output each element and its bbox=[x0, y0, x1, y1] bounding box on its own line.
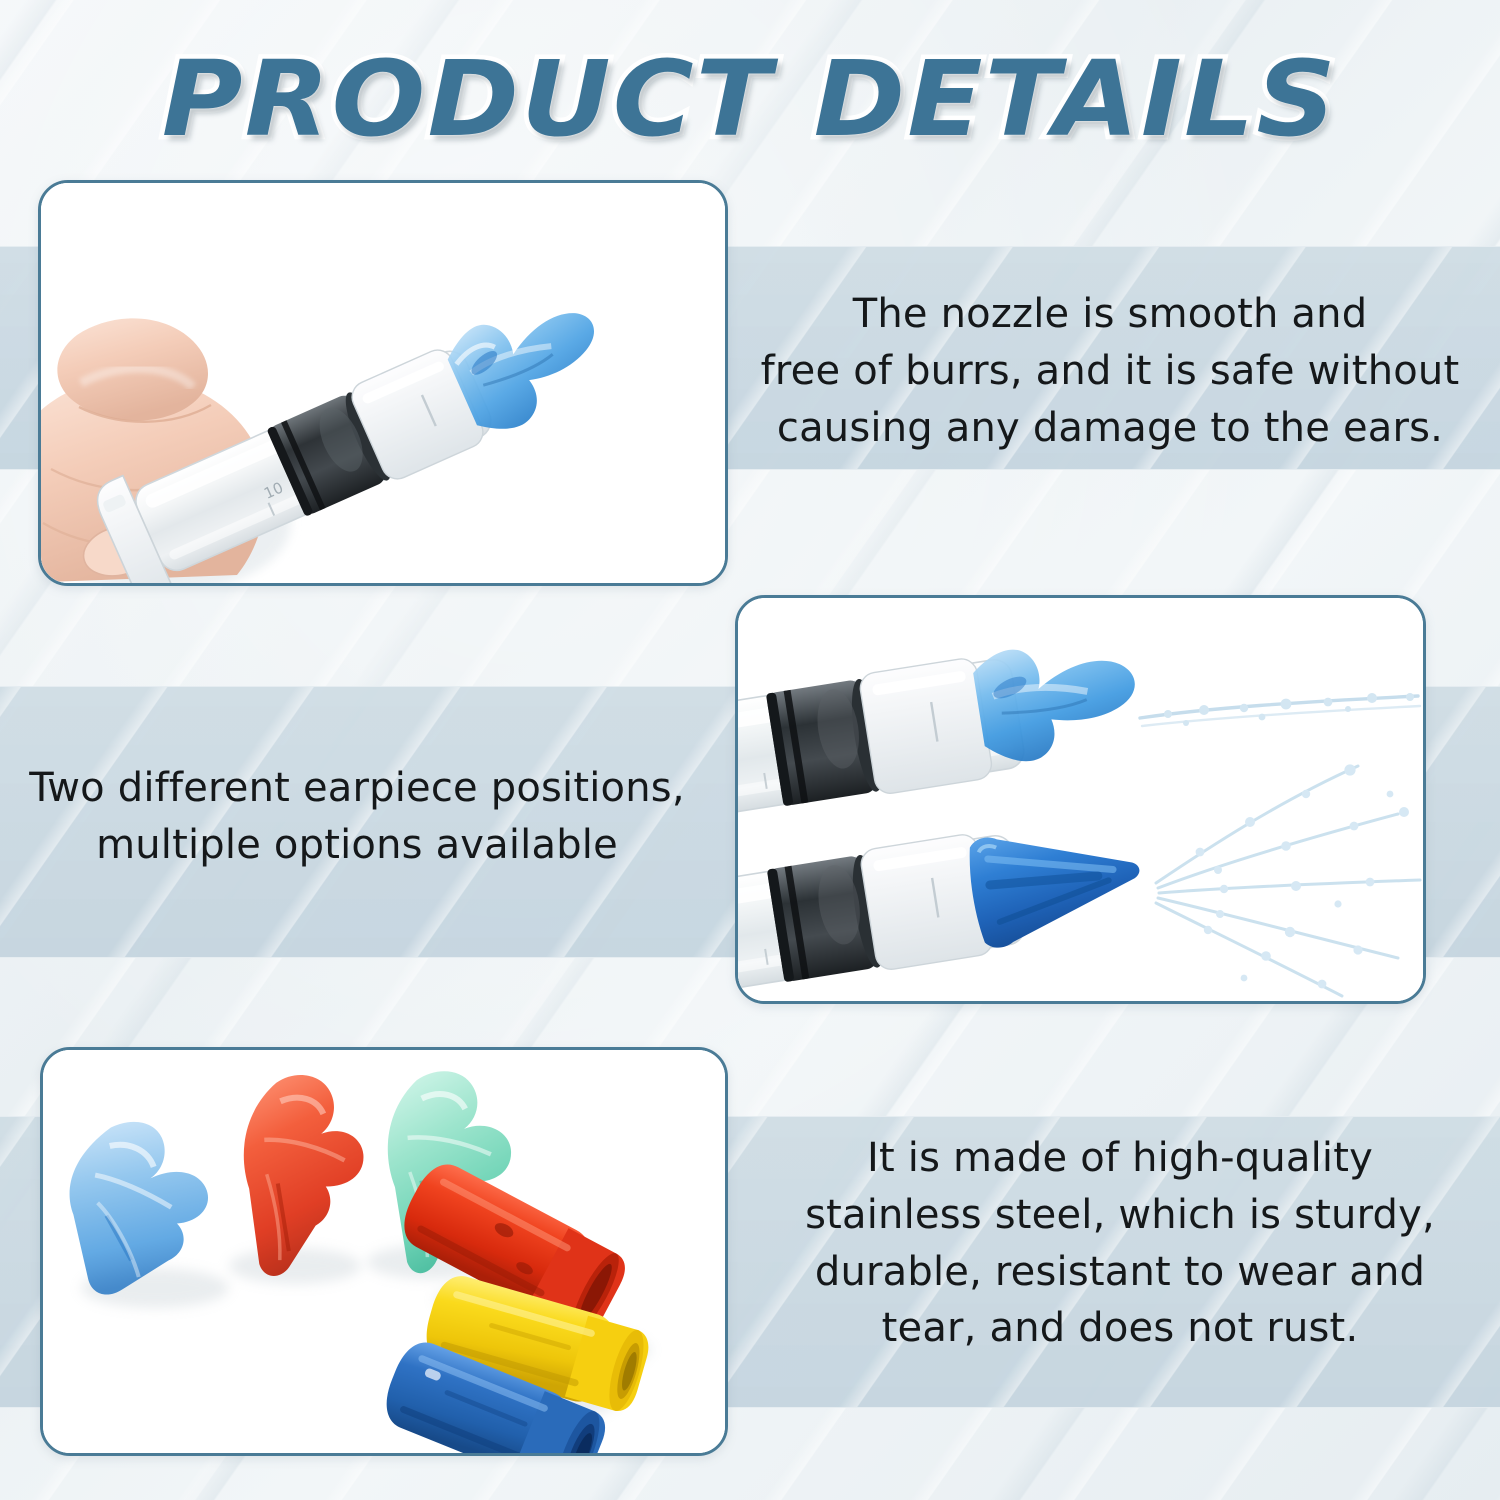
page-title: PRODUCT DETAILS bbox=[162, 38, 1338, 160]
copy-line: The nozzle is smooth and bbox=[760, 286, 1460, 343]
page-title-container: PRODUCT DETAILS bbox=[0, 38, 1500, 160]
copy-line: durable, resistant to wear and bbox=[790, 1244, 1450, 1301]
copy-line: causing any damage to the ears. bbox=[760, 400, 1460, 457]
illustration-six-nozzle-tips bbox=[43, 1050, 725, 1453]
card-hand-holding-syringe: 10 bbox=[38, 180, 728, 586]
card-two-nozzle-spray: 10 bbox=[735, 595, 1426, 1004]
illustration-two-spraying-syringes: 10 bbox=[738, 598, 1423, 1001]
copy-line: It is made of high-quality bbox=[790, 1130, 1450, 1187]
copy-line: Two different earpiece positions, bbox=[22, 760, 692, 817]
copy-two-earpiece-positions: Two different earpiece positions, multip… bbox=[22, 760, 692, 874]
copy-nozzle-smooth: The nozzle is smooth and free of burrs, … bbox=[760, 286, 1460, 456]
copy-line: tear, and does not rust. bbox=[790, 1300, 1450, 1357]
copy-line: stainless steel, which is sturdy, bbox=[790, 1187, 1450, 1244]
illustration-hand-with-syringe: 10 bbox=[41, 183, 725, 583]
photo-two-nozzle-spray: 10 bbox=[738, 598, 1423, 1001]
copy-stainless-steel: It is made of high-quality stainless ste… bbox=[790, 1130, 1450, 1357]
photo-nozzle-tips bbox=[43, 1050, 725, 1453]
product-details-page: PRODUCT DETAILS bbox=[0, 0, 1500, 1500]
photo-hand-holding-syringe: 10 bbox=[41, 183, 725, 583]
copy-line: multiple options available bbox=[22, 817, 692, 874]
copy-line: free of burrs, and it is safe without bbox=[760, 343, 1460, 400]
card-nozzle-tips-assortment bbox=[40, 1047, 728, 1456]
